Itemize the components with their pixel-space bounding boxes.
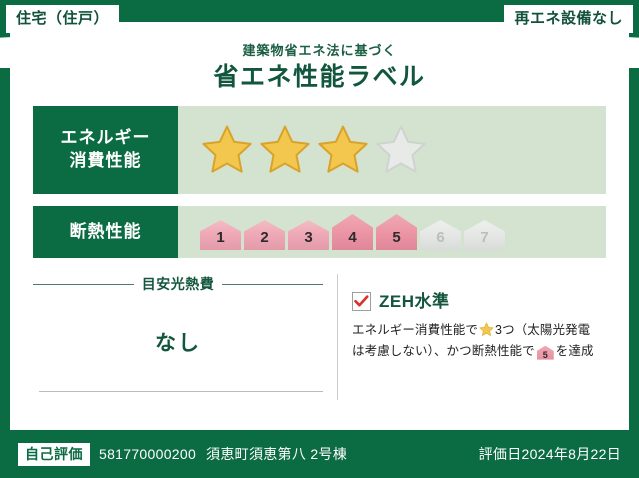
- insulation-level-number: 5: [392, 230, 400, 250]
- lower-section: 目安光熱費 なし ZEH水準 エネルギー消費性能で3つ（太陽: [33, 270, 606, 406]
- zeh-desc-part4: を達成: [556, 344, 594, 358]
- star-filled-icon: [200, 123, 254, 177]
- star-filled-icon: [316, 123, 370, 177]
- insulation-level-badge: 2: [244, 220, 285, 250]
- check-icon: [354, 295, 369, 308]
- house-shape-icon: 6: [420, 220, 461, 250]
- building-type-tag: 住宅（住戸）: [6, 5, 119, 33]
- insulation-level-badge: 1: [200, 220, 241, 250]
- insulation-level-scale: 1234567: [200, 214, 505, 250]
- star-rating: [200, 123, 428, 177]
- zeh-desc-part1: エネルギー消費性能で: [352, 323, 478, 337]
- insulation-performance-label: 断熱性能: [33, 206, 178, 258]
- label-id: 581770000200: [99, 446, 196, 462]
- zeh-checkbox[interactable]: [352, 292, 371, 311]
- renewable-energy-tag: 再エネ設備なし: [504, 5, 633, 33]
- insulation-performance-row: 断熱性能 1234567: [33, 206, 606, 258]
- insulation-level-badge: 3: [288, 220, 329, 250]
- zeh-desc-part2: 3つ（太陽光発電: [495, 323, 590, 337]
- insulation-level-number: 7: [480, 230, 488, 250]
- insulation-level-badge: 6: [420, 220, 461, 250]
- inline-star-icon: [479, 322, 494, 337]
- house-shape-icon: 1: [200, 220, 241, 250]
- house-shape-icon: 2: [244, 220, 285, 250]
- utility-cost-value: なし: [33, 327, 323, 357]
- insulation-level-number: 2: [260, 230, 268, 250]
- energy-label-line1: エネルギー: [61, 127, 151, 150]
- insulation-level-number: 6: [436, 230, 444, 250]
- zeh-heading: ZEH水準: [352, 292, 606, 311]
- zeh-description: エネルギー消費性能で3つ（太陽光発電は考慮しない）、かつ断熱性能で5を達成: [352, 320, 606, 361]
- energy-label-card: 住宅（住戸） 再エネ設備なし 建築物省エネ法に基づく 省エネ性能ラベル エネルギ…: [0, 0, 639, 478]
- house-shape-icon: 4: [332, 214, 373, 250]
- title-subtitle: 建築物省エネ法に基づく: [10, 44, 629, 57]
- property-address: 須恵町須恵第八 2号棟: [206, 444, 347, 464]
- energy-performance-value: [178, 106, 606, 194]
- label-body: 建築物省エネ法に基づく 省エネ性能ラベル エネルギー 消費性能 断熱性能 123…: [10, 22, 629, 430]
- zeh-desc-part3: は考慮しない）、かつ断熱性能で: [352, 344, 535, 358]
- house-shape-icon: 5: [376, 214, 417, 250]
- insulation-level-number: 1: [216, 230, 224, 250]
- evaluation-date: 評価日2024年8月22日: [479, 444, 621, 464]
- vertical-divider: [337, 274, 338, 400]
- house-shape-icon: 7: [464, 220, 505, 250]
- utility-cost-heading: 目安光熱費: [33, 270, 323, 294]
- inline-level-badge: 5: [537, 346, 554, 360]
- insulation-performance-value: 1234567: [178, 206, 606, 258]
- energy-performance-label: エネルギー 消費性能: [33, 106, 178, 194]
- heading-rule-right: [222, 284, 323, 285]
- utility-cost-bottom-rule: [39, 391, 323, 392]
- insulation-level-badge: 7: [464, 220, 505, 250]
- insulation-level-badge: 5: [376, 214, 417, 250]
- utility-cost-heading-text: 目安光熱費: [142, 274, 215, 294]
- insulation-level-number: 3: [304, 230, 312, 250]
- footer-bar: 自己評価 581770000200 須恵町須恵第八 2号棟 評価日2024年8月…: [0, 430, 639, 478]
- performance-rows: エネルギー 消費性能 断熱性能 1234567: [33, 106, 606, 258]
- zeh-panel: ZEH水準 エネルギー消費性能で3つ（太陽光発電は考慮しない）、かつ断熱性能で5…: [352, 270, 606, 406]
- self-evaluation-badge: 自己評価: [18, 443, 90, 466]
- star-filled-icon: [258, 123, 312, 177]
- insulation-level-badge: 4: [332, 214, 373, 250]
- house-shape-icon: 3: [288, 220, 329, 250]
- page-title: 省エネ性能ラベル: [10, 65, 629, 90]
- heading-rule-left: [33, 284, 134, 285]
- utility-cost-panel: 目安光熱費 なし: [33, 270, 323, 406]
- star-empty-icon: [374, 123, 428, 177]
- insulation-level-number: 4: [348, 230, 356, 250]
- zeh-title: ZEH水準: [379, 293, 450, 310]
- energy-label-line2: 消費性能: [70, 150, 142, 173]
- energy-performance-row: エネルギー 消費性能: [33, 106, 606, 194]
